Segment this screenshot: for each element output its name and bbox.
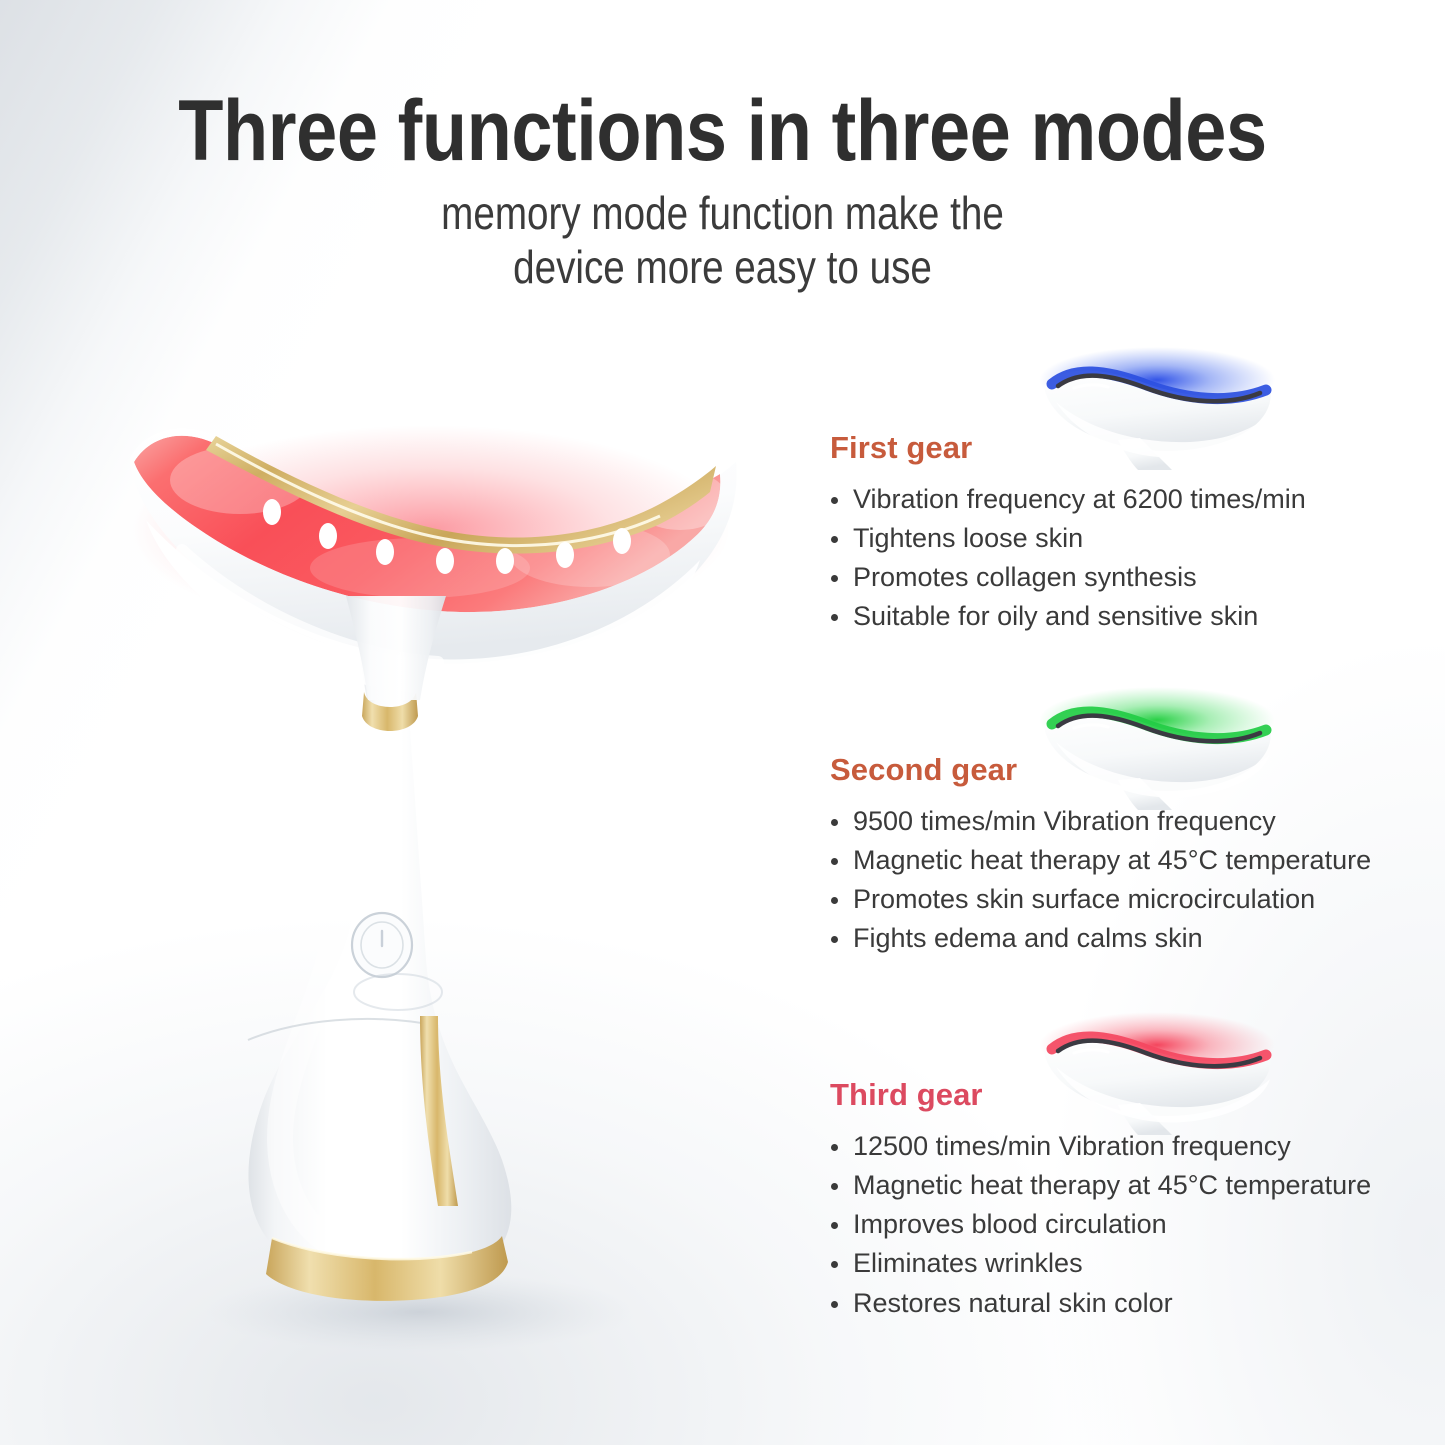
gear-heading-third: Third gear	[830, 1077, 1438, 1113]
list-item: Suitable for oily and sensitive skin	[818, 597, 1438, 636]
gear-section-second: Second gear 9500 times/min Vibration fre…	[818, 752, 1438, 959]
list-item: Fights edema and calms skin	[818, 919, 1438, 958]
list-item: Promotes skin surface microcirculation	[818, 880, 1438, 919]
list-item: Restores natural skin color	[818, 1284, 1438, 1323]
list-item: Improves blood circulation	[818, 1205, 1438, 1244]
gear-heading-first: First gear	[830, 430, 1438, 466]
power-button[interactable]	[352, 913, 412, 977]
list-item: 9500 times/min Vibration frequency	[818, 802, 1438, 841]
gear-section-first: First gear Vibration frequency at 6200 t…	[818, 430, 1438, 637]
list-item: Vibration frequency at 6200 times/min	[818, 480, 1438, 519]
list-item: Promotes collagen synthesis	[818, 558, 1438, 597]
list-item: 12500 times/min Vibration frequency	[818, 1127, 1438, 1166]
gear-bullets-second: 9500 times/min Vibration frequency Magne…	[818, 802, 1438, 959]
subtitle-line-1: memory mode function make the	[116, 186, 1330, 240]
infographic-poster: Three functions in three modes memory mo…	[0, 0, 1445, 1445]
list-item: Eliminates wrinkles	[818, 1244, 1438, 1283]
list-item: Magnetic heat therapy at 45°C temperatur…	[818, 841, 1438, 880]
gear-bullets-first: Vibration frequency at 6200 times/min Ti…	[818, 480, 1438, 637]
list-item: Tightens loose skin	[818, 519, 1438, 558]
page-title: Three functions in three modes	[101, 88, 1344, 176]
gear-section-third: Third gear 12500 times/min Vibration fre…	[818, 1077, 1438, 1323]
list-item: Magnetic heat therapy at 45°C temperatur…	[818, 1166, 1438, 1205]
subtitle-line-2: device more easy to use	[116, 240, 1330, 294]
gear-heading-second: Second gear	[830, 752, 1438, 788]
hero-product-image	[120, 400, 760, 1360]
page-subtitle: memory mode function make the device mor…	[116, 186, 1330, 295]
gear-bullets-third: 12500 times/min Vibration frequency Magn…	[818, 1127, 1438, 1323]
